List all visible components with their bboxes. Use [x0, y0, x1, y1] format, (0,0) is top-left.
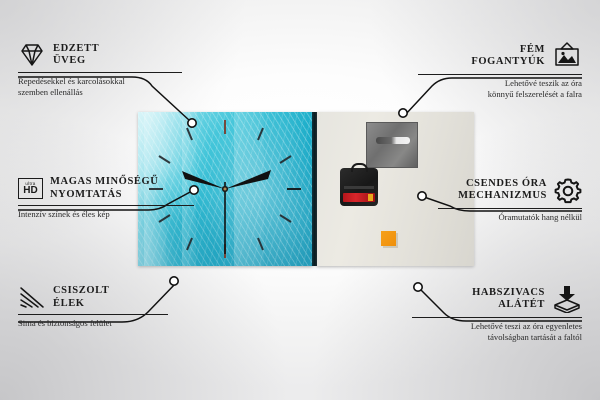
- callout-description: Repedésekkel és karcolásokkal szemben el…: [18, 76, 182, 97]
- metal-hanger-icon: [366, 122, 418, 168]
- battery: [343, 193, 375, 202]
- callout-title: MAGAS MINŐSÉGŰ NYOMTATÁS: [50, 176, 158, 201]
- callout-title: FÉM FOGANTYÚK: [471, 44, 545, 69]
- callout-tempered-glass: EDZETT ÜVEG Repedésekkel és karcolásokka…: [18, 42, 182, 97]
- product-infographic: EDZETT ÜVEG Repedésekkel és karcolásokka…: [0, 0, 600, 400]
- callout-header: ultraHD MAGAS MINŐSÉGŰ NYOMTATÁS: [18, 176, 194, 201]
- callout-description: Intenzív színek és éles kép: [18, 209, 194, 220]
- callout-divider: [418, 74, 582, 75]
- callout-high-quality-print: ultraHD MAGAS MINŐSÉGŰ NYOMTATÁS Intenzí…: [18, 176, 194, 220]
- callout-header: CSISZOLT ÉLEK: [18, 285, 168, 310]
- callout-divider: [18, 314, 168, 315]
- diamond-icon: [18, 42, 46, 68]
- gear-icon: [554, 176, 582, 204]
- callout-description: Sima és biztonságos felület: [18, 318, 168, 329]
- callout-title: EDZETT ÜVEG: [53, 43, 99, 68]
- callout-divider: [438, 208, 582, 209]
- polished-edge-icon: [18, 286, 46, 310]
- mechanism-bar: [344, 186, 374, 189]
- callout-divider: [18, 72, 182, 73]
- minute-hand: [225, 170, 271, 189]
- clock-mechanism: [340, 168, 378, 206]
- hanger-slot: [376, 137, 410, 144]
- callout-description: Óramutatók hang nélkül: [438, 212, 582, 223]
- callout-polished-edges: CSISZOLT ÉLEK Sima és biztonságos felüle…: [18, 285, 168, 329]
- callout-header: CSENDES ÓRA MECHANIZMUS: [438, 176, 582, 204]
- picture-hanger-icon: [552, 42, 582, 70]
- callout-metal-handles: FÉM FOGANTYÚK Lehetővé teszik az óra kön…: [418, 42, 582, 99]
- foam-pad-icon: [552, 285, 582, 313]
- foam-pad: [381, 231, 396, 246]
- callout-title: CSISZOLT ÉLEK: [53, 285, 109, 310]
- callout-divider: [18, 205, 194, 206]
- callout-divider: [412, 317, 582, 318]
- callout-foam-backing: HABSZIVACS ALÁTÉT Lehetővé teszi az óra …: [412, 285, 582, 342]
- callout-description: Lehetővé teszik az óra könnyű felszerelé…: [418, 78, 582, 99]
- ultra-hd-icon: ultraHD: [18, 178, 43, 199]
- callout-header: FÉM FOGANTYÚK: [418, 42, 582, 70]
- callout-silent-mechanism: CSENDES ÓRA MECHANIZMUS Óramutatók hang …: [438, 176, 582, 223]
- mechanism-hook: [351, 163, 368, 172]
- callout-description: Lehetővé teszi az óra egyenletes távolsá…: [412, 321, 582, 342]
- callout-header: HABSZIVACS ALÁTÉT: [412, 285, 582, 313]
- callout-title: HABSZIVACS ALÁTÉT: [472, 287, 545, 312]
- callout-header: EDZETT ÜVEG: [18, 42, 182, 68]
- callout-title: CSENDES ÓRA MECHANIZMUS: [458, 178, 547, 203]
